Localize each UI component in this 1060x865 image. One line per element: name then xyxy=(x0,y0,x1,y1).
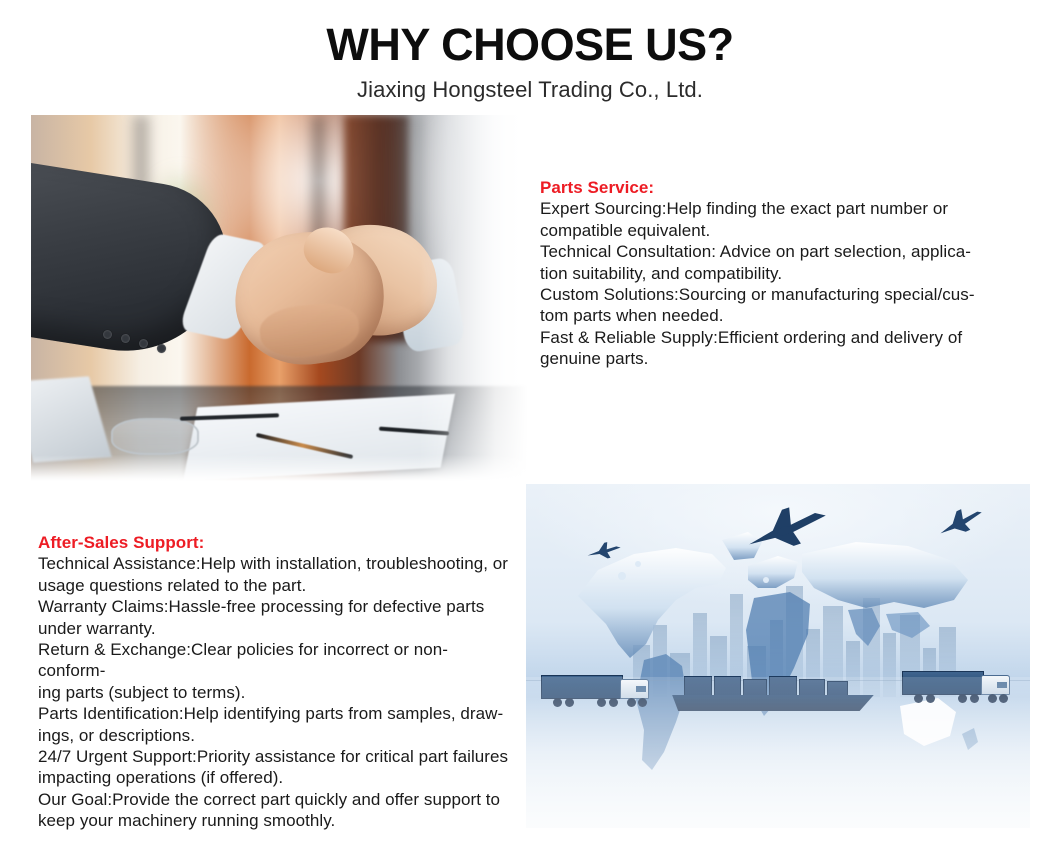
global-logistics-photo xyxy=(526,484,1030,828)
water-reflection xyxy=(526,677,1030,828)
suit-button xyxy=(103,330,112,339)
after-sales-line: keep your machinery running smoothly. xyxy=(38,810,513,831)
after-sales-line: impacting operations (if offered). xyxy=(38,767,513,788)
after-sales-line: Our Goal:Provide the correct part quickl… xyxy=(38,789,513,810)
parts-service-line: Custom Solutions:Sourcing or manufacturi… xyxy=(540,284,1035,305)
suit-button xyxy=(157,344,166,353)
after-sales-line: ings, or descriptions. xyxy=(38,725,513,746)
suit-button xyxy=(139,339,148,348)
parts-service-heading: Parts Service: xyxy=(540,177,1035,198)
after-sales-line: ing parts (subject to terms). xyxy=(38,682,513,703)
after-sales-support-heading: After-Sales Support: xyxy=(38,532,513,553)
after-sales-line: Technical Assistance:Help with installat… xyxy=(38,553,513,574)
after-sales-line: under warranty. xyxy=(38,618,513,639)
parts-service-text-block: Parts Service: Expert Sourcing:Help find… xyxy=(540,177,1035,370)
after-sales-line: Return & Exchange:Clear policies for inc… xyxy=(38,639,513,682)
handshake-photo xyxy=(31,115,528,481)
after-sales-line: usage questions related to the part. xyxy=(38,575,513,596)
photo-right-fade xyxy=(419,115,528,481)
company-name-subtitle: Jiaxing Hongsteel Trading Co., Ltd. xyxy=(0,71,1060,103)
eyeglasses xyxy=(111,418,199,455)
suit-button xyxy=(121,334,130,343)
after-sales-support-text-block: After-Sales Support: Technical Assistanc… xyxy=(38,532,513,832)
after-sales-line: Warranty Claims:Hassle-free processing f… xyxy=(38,596,513,617)
parts-service-line: Fast & Reliable Supply:Efficient orderin… xyxy=(540,327,1035,348)
page-title: WHY CHOOSE US? xyxy=(0,0,1060,71)
parts-service-line: genuine parts. xyxy=(540,348,1035,369)
after-sales-line: Parts Identification:Help identifying pa… xyxy=(38,703,513,724)
photo-bottom-fade xyxy=(31,455,528,481)
after-sales-line: 24/7 Urgent Support:Priority assistance … xyxy=(38,746,513,767)
parts-service-line: Expert Sourcing:Help finding the exact p… xyxy=(540,198,1035,219)
parts-service-line: tion suitability, and compatibility. xyxy=(540,263,1035,284)
parts-service-line: tom parts when needed. xyxy=(540,305,1035,326)
page-header: WHY CHOOSE US? Jiaxing Hongsteel Trading… xyxy=(0,0,1060,103)
parts-service-line: Technical Consultation: Advice on part s… xyxy=(540,241,1035,262)
parts-service-line: compatible equivalent. xyxy=(540,220,1035,241)
